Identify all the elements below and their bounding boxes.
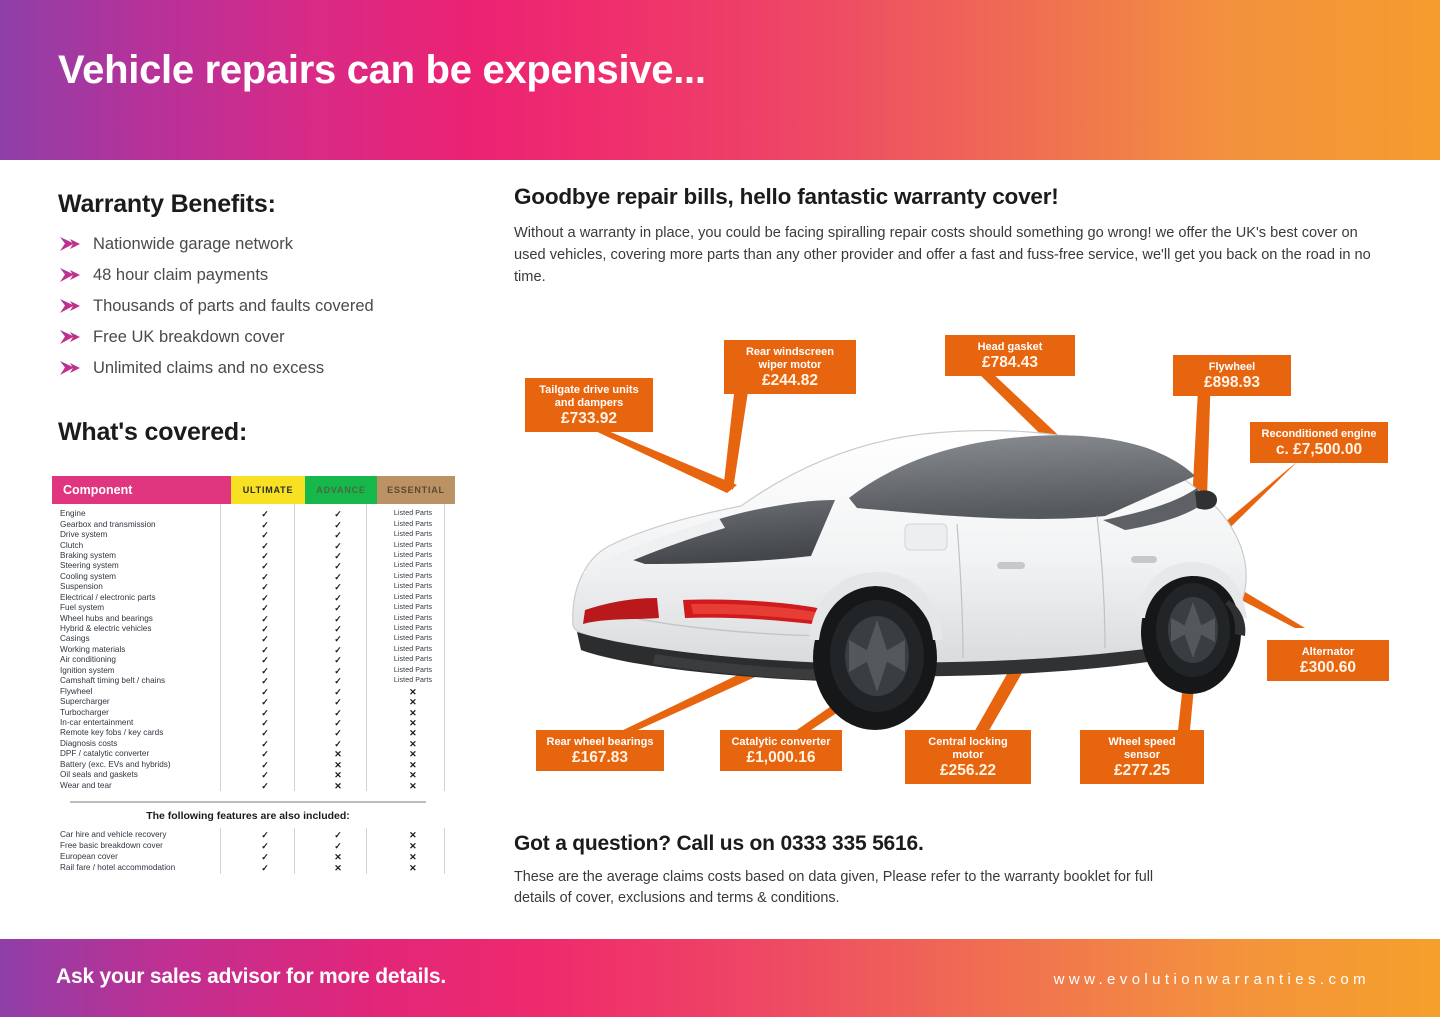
cell-essential: Listed Parts xyxy=(374,634,452,644)
component-name: Wheel hubs and bearings xyxy=(52,614,228,624)
cell-ultimate: ✓ xyxy=(228,697,302,707)
cell-essential: ✕ xyxy=(374,718,452,728)
component-name: Ignition system xyxy=(52,666,228,676)
cell-essential: ✕ xyxy=(374,708,452,718)
warranty-benefits-section: Warranty Benefits: Nationwide garage net… xyxy=(58,190,488,388)
table-row: Camshaft timing belt / chains✓✓Listed Pa… xyxy=(52,676,444,686)
table-row: Car hire and vehicle recovery✓✓✕ xyxy=(52,830,444,841)
covered-heading: What's covered: xyxy=(58,418,247,447)
list-item: Free UK breakdown cover xyxy=(58,326,488,348)
benefit-label: Free UK breakdown cover xyxy=(93,328,285,346)
cell-ultimate: ✓ xyxy=(228,530,302,540)
component-name: Free basic breakdown cover xyxy=(52,841,228,851)
table-row: Diagnosis costs✓✓✕ xyxy=(52,739,444,749)
cell-advance: ✓ xyxy=(302,655,374,665)
component-name: Flywheel xyxy=(52,687,228,697)
component-name: DPF / catalytic converter xyxy=(52,749,228,759)
cell-advance: ✓ xyxy=(302,551,374,561)
table-row: Wear and tear✓✕✕ xyxy=(52,780,444,790)
cell-advance: ✕ xyxy=(302,770,374,780)
benefit-label: Nationwide garage network xyxy=(93,235,293,253)
cell-ultimate: ✓ xyxy=(228,593,302,603)
table-row: Ignition system✓✓Listed Parts xyxy=(52,666,444,676)
table-row: Steering system✓✓Listed Parts xyxy=(52,561,444,571)
column-header-essential: ESSENTIAL xyxy=(377,476,455,504)
cell-ultimate: ✓ xyxy=(228,770,302,780)
component-name: Air conditioning xyxy=(52,655,228,665)
main-heading: Goodbye repair bills, hello fantastic wa… xyxy=(514,184,1404,210)
cell-advance: ✓ xyxy=(302,509,374,519)
cell-essential: ✕ xyxy=(374,830,452,840)
callout-central-locking[interactable]: Central locking motor £256.22 xyxy=(905,730,1031,784)
cell-advance: ✓ xyxy=(302,603,374,613)
cell-ultimate: ✓ xyxy=(228,676,302,686)
cell-ultimate: ✓ xyxy=(228,830,302,840)
cell-essential: Listed Parts xyxy=(374,530,452,540)
component-name: Suspension xyxy=(52,582,228,592)
cell-advance: ✓ xyxy=(302,676,374,686)
component-name: Oil seals and gaskets xyxy=(52,770,228,780)
component-name: Drive system xyxy=(52,530,228,540)
extras-body: Car hire and vehicle recovery✓✓✕Free bas… xyxy=(52,828,444,874)
callout-rear-wheel-bearings[interactable]: Rear wheel bearings £167.83 xyxy=(536,730,664,771)
table-body: Engine✓✓Listed PartsGearbox and transmis… xyxy=(52,504,444,791)
cell-ultimate: ✓ xyxy=(228,634,302,644)
benefit-label: Thousands of parts and faults covered xyxy=(93,297,374,315)
column-divider xyxy=(220,504,221,791)
column-divider xyxy=(294,828,295,874)
cell-ultimate: ✓ xyxy=(228,645,302,655)
cell-ultimate: ✓ xyxy=(228,728,302,738)
cell-advance: ✓ xyxy=(302,728,374,738)
callout-price: £256.22 xyxy=(915,764,1021,777)
disclaimer-text: These are the average claims costs based… xyxy=(514,867,1174,909)
column-header-advance: ADVANCE xyxy=(305,476,377,504)
cell-essential: Listed Parts xyxy=(374,520,452,530)
component-name: Electrical / electronic parts xyxy=(52,593,228,603)
cell-essential: Listed Parts xyxy=(374,603,452,613)
cell-ultimate: ✓ xyxy=(228,852,302,862)
main-paragraph: Without a warranty in place, you could b… xyxy=(514,222,1392,288)
table-row: Turbocharger✓✓✕ xyxy=(52,707,444,717)
cell-advance: ✓ xyxy=(302,561,374,571)
callout-label: Reconditioned engine xyxy=(1260,428,1378,441)
cell-ultimate: ✓ xyxy=(228,739,302,749)
list-item: Thousands of parts and faults covered xyxy=(58,295,488,317)
cell-essential: Listed Parts xyxy=(374,561,452,571)
component-name: Casings xyxy=(52,634,228,644)
table-row: Hybrid & electric vehicles✓✓Listed Parts xyxy=(52,624,444,634)
cell-essential: ✕ xyxy=(374,770,452,780)
contact-heading: Got a question? Call us on 0333 335 5616… xyxy=(514,832,1174,856)
cell-essential: ✕ xyxy=(374,781,452,791)
callout-label: Tailgate drive units and dampers xyxy=(535,384,643,410)
contact-section: Got a question? Call us on 0333 335 5616… xyxy=(514,832,1174,909)
callout-label: Rear wheel bearings xyxy=(546,736,654,749)
cell-essential: ✕ xyxy=(374,697,452,707)
cell-ultimate: ✓ xyxy=(228,572,302,582)
cell-ultimate: ✓ xyxy=(228,718,302,728)
header-banner: Vehicle repairs can be expensive... xyxy=(0,0,1440,160)
chevron-right-icon xyxy=(58,297,84,315)
callout-alternator[interactable]: Alternator £300.60 xyxy=(1267,640,1389,681)
table-row: Electrical / electronic parts✓✓Listed Pa… xyxy=(52,593,444,603)
footer-website[interactable]: www.evolutionwarranties.com xyxy=(1054,971,1370,988)
table-row: Casings✓✓Listed Parts xyxy=(52,634,444,644)
table-row: Remote key fobs / key cards✓✓✕ xyxy=(52,728,444,738)
cell-essential: ✕ xyxy=(374,841,452,851)
cell-advance: ✓ xyxy=(302,582,374,592)
cell-advance: ✕ xyxy=(302,863,374,873)
table-row: Supercharger✓✓✕ xyxy=(52,697,444,707)
cell-advance: ✓ xyxy=(302,687,374,697)
table-row: Wheel hubs and bearings✓✓Listed Parts xyxy=(52,613,444,623)
footer-banner: Ask your sales advisor for more details.… xyxy=(0,939,1440,1017)
cell-advance: ✓ xyxy=(302,530,374,540)
cell-advance: ✓ xyxy=(302,697,374,707)
cell-advance: ✓ xyxy=(302,739,374,749)
component-name: Wear and tear xyxy=(52,781,228,791)
cell-ultimate: ✓ xyxy=(228,551,302,561)
cell-essential: Listed Parts xyxy=(374,666,452,676)
list-item: 48 hour claim payments xyxy=(58,264,488,286)
cell-advance: ✓ xyxy=(302,666,374,676)
cell-essential: Listed Parts xyxy=(374,572,452,582)
cell-advance: ✓ xyxy=(302,593,374,603)
component-name: Engine xyxy=(52,509,228,519)
column-divider xyxy=(366,504,367,791)
callout-catalytic-converter[interactable]: Catalytic converter £1,000.16 xyxy=(720,730,842,771)
component-name: European cover xyxy=(52,852,228,862)
column-header-ultimate: ULTIMATE xyxy=(231,476,305,504)
cell-essential: ✕ xyxy=(374,728,452,738)
callout-tailgate[interactable]: Tailgate drive units and dampers £733.92 xyxy=(525,378,653,432)
column-header-component: Component xyxy=(52,476,231,504)
component-name: Rail fare / hotel accommodation xyxy=(52,863,228,873)
callout-label: Rear windscreen wiper motor xyxy=(734,346,846,372)
column-divider xyxy=(366,828,367,874)
callout-price: £167.83 xyxy=(546,751,654,764)
callout-price: c. £7,500.00 xyxy=(1260,443,1378,456)
component-name: Braking system xyxy=(52,551,228,561)
cell-essential: ✕ xyxy=(374,749,452,759)
cell-ultimate: ✓ xyxy=(228,666,302,676)
table-row: European cover✓✕✕ xyxy=(52,852,444,863)
callout-price: £277.25 xyxy=(1090,764,1194,777)
cell-ultimate: ✓ xyxy=(228,603,302,613)
cell-ultimate: ✓ xyxy=(228,655,302,665)
callout-wheel-speed-sensor[interactable]: Wheel speed sensor £277.25 xyxy=(1080,730,1204,784)
cell-essential: ✕ xyxy=(374,739,452,749)
callout-price: £300.60 xyxy=(1277,661,1379,674)
component-name: Camshaft timing belt / chains xyxy=(52,676,228,686)
component-name: Clutch xyxy=(52,541,228,551)
callout-label: Central locking motor xyxy=(915,736,1021,762)
component-name: Turbocharger xyxy=(52,708,228,718)
cell-ultimate: ✓ xyxy=(228,509,302,519)
table-row: Cooling system✓✓Listed Parts xyxy=(52,572,444,582)
cell-essential: Listed Parts xyxy=(374,509,452,519)
component-name: Fuel system xyxy=(52,603,228,613)
cell-ultimate: ✓ xyxy=(228,541,302,551)
chevron-right-icon xyxy=(58,328,84,346)
table-row: Working materials✓✓Listed Parts xyxy=(52,645,444,655)
cell-advance: ✓ xyxy=(302,718,374,728)
component-name: In-car entertainment xyxy=(52,718,228,728)
cell-advance: ✓ xyxy=(302,572,374,582)
table-header-row: Component ULTIMATE ADVANCE ESSENTIAL xyxy=(52,476,444,504)
callout-label: Flywheel xyxy=(1183,361,1281,374)
cell-essential: ✕ xyxy=(374,863,452,873)
table-row: Clutch✓✓Listed Parts xyxy=(52,540,444,550)
callout-label: Head gasket xyxy=(955,341,1065,354)
cell-essential: ✕ xyxy=(374,687,452,697)
chevron-right-icon xyxy=(58,359,84,377)
main-copy-section: Goodbye repair bills, hello fantastic wa… xyxy=(514,184,1404,288)
table-row: Suspension✓✓Listed Parts xyxy=(52,582,444,592)
list-item: Nationwide garage network xyxy=(58,233,488,255)
component-name: Car hire and vehicle recovery xyxy=(52,830,228,840)
cell-ultimate: ✓ xyxy=(228,841,302,851)
cell-ultimate: ✓ xyxy=(228,749,302,759)
column-divider xyxy=(294,504,295,791)
cell-ultimate: ✓ xyxy=(228,708,302,718)
table-row: Air conditioning✓✓Listed Parts xyxy=(52,655,444,665)
cell-ultimate: ✓ xyxy=(228,863,302,873)
table-row: Battery (exc. EVs and hybrids)✓✕✕ xyxy=(52,760,444,770)
cell-advance: ✓ xyxy=(302,520,374,530)
car-illustration xyxy=(573,430,1247,730)
chevron-right-icon xyxy=(58,266,84,284)
cell-ultimate: ✓ xyxy=(228,624,302,634)
cell-essential: Listed Parts xyxy=(374,676,452,686)
cell-essential: Listed Parts xyxy=(374,551,452,561)
cell-advance: ✓ xyxy=(302,830,374,840)
chevron-right-icon xyxy=(58,235,84,253)
callout-rear-wiper[interactable]: Rear windscreen wiper motor £244.82 xyxy=(724,340,856,394)
table-row: Engine✓✓Listed Parts xyxy=(52,509,444,519)
cell-advance: ✓ xyxy=(302,541,374,551)
list-item: Unlimited claims and no excess xyxy=(58,357,488,379)
table-row: Rail fare / hotel accommodation✓✕✕ xyxy=(52,863,444,874)
cell-essential: Listed Parts xyxy=(374,624,452,634)
table-row: Flywheel✓✓✕ xyxy=(52,686,444,696)
table-row: Gearbox and transmission✓✓Listed Parts xyxy=(52,519,444,529)
callout-price: £244.82 xyxy=(734,374,846,387)
table-divider xyxy=(70,801,426,803)
cell-advance: ✕ xyxy=(302,781,374,791)
table-row: Braking system✓✓Listed Parts xyxy=(52,551,444,561)
table-row: DPF / catalytic converter✓✕✕ xyxy=(52,749,444,759)
table-row: Oil seals and gaskets✓✕✕ xyxy=(52,770,444,780)
callout-head-gasket[interactable]: Head gasket £784.43 xyxy=(945,335,1075,376)
benefits-list: Nationwide garage network 48 hour claim … xyxy=(58,233,488,379)
component-name: Diagnosis costs xyxy=(52,739,228,749)
cell-ultimate: ✓ xyxy=(228,614,302,624)
component-name: Cooling system xyxy=(52,572,228,582)
table-row: Free basic breakdown cover✓✓✕ xyxy=(52,841,444,852)
vehicle-diagram: Tailgate drive units and dampers £733.92… xyxy=(505,310,1405,810)
callout-price: £898.93 xyxy=(1183,376,1281,389)
benefit-label: Unlimited claims and no excess xyxy=(93,359,324,377)
component-name: Working materials xyxy=(52,645,228,655)
component-name: Supercharger xyxy=(52,697,228,707)
cell-essential: Listed Parts xyxy=(374,645,452,655)
cell-essential: Listed Parts xyxy=(374,614,452,624)
callout-price: £784.43 xyxy=(955,356,1065,369)
cell-ultimate: ✓ xyxy=(228,781,302,791)
component-name: Steering system xyxy=(52,561,228,571)
extras-heading: The following features are also included… xyxy=(52,810,444,822)
callout-label: Alternator xyxy=(1277,646,1379,659)
table-row: Fuel system✓✓Listed Parts xyxy=(52,603,444,613)
table-row: Drive system✓✓Listed Parts xyxy=(52,530,444,540)
cell-advance: ✓ xyxy=(302,624,374,634)
cell-ultimate: ✓ xyxy=(228,582,302,592)
table-row: In-car entertainment✓✓✕ xyxy=(52,718,444,728)
cell-essential: Listed Parts xyxy=(374,541,452,551)
cell-essential: ✕ xyxy=(374,852,452,862)
column-divider xyxy=(220,828,221,874)
coverage-table: Component ULTIMATE ADVANCE ESSENTIAL Eng… xyxy=(52,476,444,874)
component-name: Hybrid & electric vehicles xyxy=(52,624,228,634)
benefits-heading: Warranty Benefits: xyxy=(58,190,488,219)
callout-price: £1,000.16 xyxy=(730,751,832,764)
footer-tagline: Ask your sales advisor for more details. xyxy=(56,965,446,989)
cell-advance: ✕ xyxy=(302,749,374,759)
cell-ultimate: ✓ xyxy=(228,561,302,571)
cell-advance: ✓ xyxy=(302,708,374,718)
component-name: Gearbox and transmission xyxy=(52,520,228,530)
column-divider xyxy=(444,504,445,791)
benefit-label: 48 hour claim payments xyxy=(93,266,268,284)
column-divider xyxy=(444,828,445,874)
cell-essential: ✕ xyxy=(374,760,452,770)
component-name: Battery (exc. EVs and hybrids) xyxy=(52,760,228,770)
cell-advance: ✕ xyxy=(302,852,374,862)
page-title: Vehicle repairs can be expensive... xyxy=(58,48,706,93)
cell-ultimate: ✓ xyxy=(228,760,302,770)
callout-price: £733.92 xyxy=(535,412,643,425)
callout-flywheel[interactable]: Flywheel £898.93 xyxy=(1173,355,1291,396)
cell-advance: ✕ xyxy=(302,760,374,770)
cell-essential: Listed Parts xyxy=(374,593,452,603)
callout-label: Wheel speed sensor xyxy=(1090,736,1194,762)
cell-advance: ✓ xyxy=(302,645,374,655)
cell-advance: ✓ xyxy=(302,614,374,624)
cell-advance: ✓ xyxy=(302,634,374,644)
cell-ultimate: ✓ xyxy=(228,687,302,697)
callout-reconditioned-engine[interactable]: Reconditioned engine c. £7,500.00 xyxy=(1250,422,1388,463)
callout-label: Catalytic converter xyxy=(730,736,832,749)
cell-ultimate: ✓ xyxy=(228,520,302,530)
cell-advance: ✓ xyxy=(302,841,374,851)
cell-essential: Listed Parts xyxy=(374,582,452,592)
cell-essential: Listed Parts xyxy=(374,655,452,665)
component-name: Remote key fobs / key cards xyxy=(52,728,228,738)
